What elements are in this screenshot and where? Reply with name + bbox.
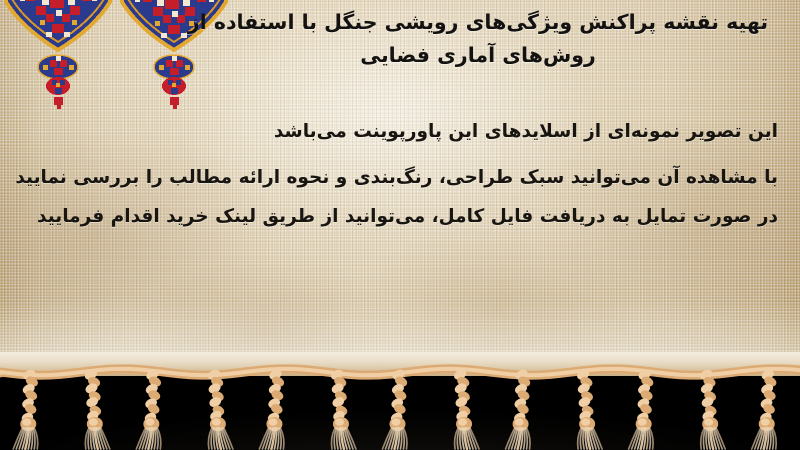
slide-title-line-2: روش‌های آماری فضایی	[178, 39, 778, 72]
fringe-tassel	[83, 368, 110, 449]
slide-canvas: تهیه نقشه پراکنش ویژگی‌های رویشی جنگل با…	[0, 0, 800, 450]
fringe-tassel	[206, 368, 233, 449]
slide-body: این تصویر نمونه‌ای از اسلایدهای این پاور…	[22, 112, 778, 236]
fringe-tassels-icon	[0, 352, 800, 450]
fringe-tassel	[629, 368, 655, 449]
fringe-tassel	[506, 368, 532, 449]
body-line-3: در صورت تمایل به دریافت فایل کامل، می‌تو…	[22, 197, 778, 236]
fringe-tassel	[452, 368, 479, 449]
fringe-tassel	[13, 368, 39, 449]
carpet-fringe	[0, 352, 800, 450]
body-line-2: با مشاهده آن می‌توانید سبک طراحی، رنگ‌بن…	[22, 158, 778, 197]
slide-title-line-1: تهیه نقشه پراکنش ویژگی‌های رویشی جنگل با…	[178, 6, 778, 39]
body-line-1: این تصویر نمونه‌ای از اسلایدهای این پاور…	[22, 112, 778, 151]
fringe-tassel	[329, 368, 356, 449]
carpet-medallion-pendant-left-icon	[2, 0, 114, 116]
fringe-tassel	[136, 368, 162, 449]
fringe-tassel	[575, 368, 602, 449]
fringe-tassel	[752, 368, 778, 449]
fringe-tassel	[383, 368, 409, 449]
fringe-tassel	[259, 368, 285, 449]
fringe-tassel	[698, 368, 725, 449]
slide-title: تهیه نقشه پراکنش ویژگی‌های رویشی جنگل با…	[178, 6, 778, 72]
